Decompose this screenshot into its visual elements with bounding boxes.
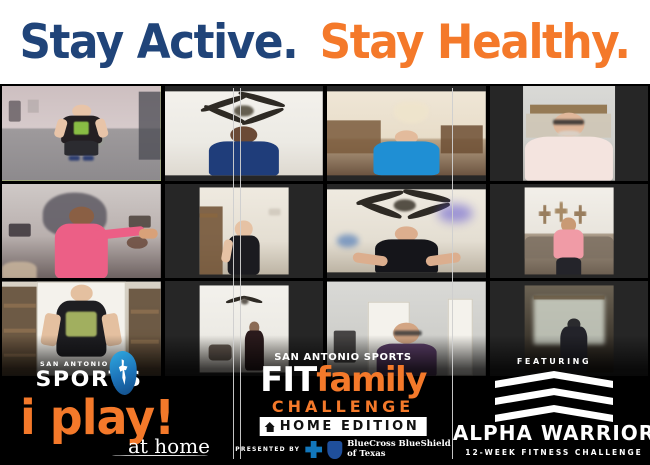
headline-stay-active: Stay Active. <box>19 19 297 66</box>
divider-left-b <box>240 88 241 459</box>
camera-view-7 <box>327 189 486 272</box>
headline-stay-healthy: Stay Healthy. <box>319 19 629 66</box>
featuring-label: FEATURING <box>517 357 591 366</box>
challenge-word: CHALLENGE <box>272 397 414 416</box>
participant-tile-4[interactable] <box>490 86 649 181</box>
chevron-stack-icon <box>495 371 613 417</box>
video-stream-1 <box>2 86 161 181</box>
alpha-warrior-subtitle: 12-WEEK FITNESS CHALLENGE <box>465 448 643 457</box>
alpha-warrior-name: ALPHA WARRIOR <box>453 421 650 445</box>
logo-alpha-warrior: FEATURING ALPHA WARRIOR 12-WEEK FITNESS … <box>458 347 650 465</box>
participant-tile-1[interactable] <box>2 86 161 181</box>
camera-view-2 <box>165 92 324 175</box>
fit-family-title: FITfamily <box>260 363 426 397</box>
at-home-underline <box>112 455 208 456</box>
video-stream-7 <box>327 184 486 279</box>
divider-left-a <box>233 88 234 459</box>
home-icon <box>265 422 276 432</box>
camera-view-3 <box>327 92 486 175</box>
camera-view-8 <box>524 187 613 274</box>
video-stream-8 <box>490 184 649 279</box>
participant-tiles <box>0 86 650 376</box>
blueshield-shield-icon <box>327 441 342 459</box>
camera-view-5 <box>2 184 161 279</box>
logo-san-antonio-sports-iplay: SAN ANTONIO SPORTS i play! at home <box>0 347 228 465</box>
video-stream-3 <box>327 86 486 181</box>
home-edition-text: HOME EDITION <box>280 419 420 434</box>
presented-by-label: PRESENTED BY <box>235 446 300 453</box>
participant-tile-8[interactable] <box>490 184 649 279</box>
camera-view-4 <box>523 86 615 181</box>
video-stream-4 <box>490 86 649 181</box>
participant-tile-7[interactable] <box>327 184 486 279</box>
video-stream-6 <box>165 184 324 279</box>
headline-banner: Stay Active.Stay Healthy. <box>0 0 650 84</box>
video-stream-5 <box>2 184 161 279</box>
participant-tile-3[interactable] <box>327 86 486 181</box>
video-stream-2 <box>165 86 324 181</box>
participant-tile-2[interactable] <box>165 86 324 181</box>
sponsor-name: BlueCross BlueShield of Texas <box>347 440 451 459</box>
video-conference-grid: SAN ANTONIO SPORTS i play! at home SAN A… <box>0 84 650 465</box>
sponsor-logo-bar: SAN ANTONIO SPORTS i play! at home SAN A… <box>0 347 650 465</box>
home-edition-badge: HOME EDITION <box>260 417 427 436</box>
sponsor-line-2: of Texas <box>347 449 385 459</box>
participant-tile-6[interactable] <box>165 184 324 279</box>
logo-fit-family-challenge: SAN ANTONIO SPORTS FITfamily CHALLENGE H… <box>228 347 458 465</box>
presented-by-row: PRESENTED BY BlueCross BlueShield of Tex… <box>235 440 450 459</box>
camera-view-1 <box>2 86 161 181</box>
family-word: family <box>316 360 426 400</box>
sponsor-line-1: BlueCross BlueShield <box>347 439 451 449</box>
camera-view-6 <box>199 187 288 274</box>
fit-word: FIT <box>260 360 316 400</box>
divider-right-a <box>452 88 453 459</box>
bluecross-cross-icon <box>305 441 322 458</box>
participant-tile-5[interactable] <box>2 184 161 279</box>
